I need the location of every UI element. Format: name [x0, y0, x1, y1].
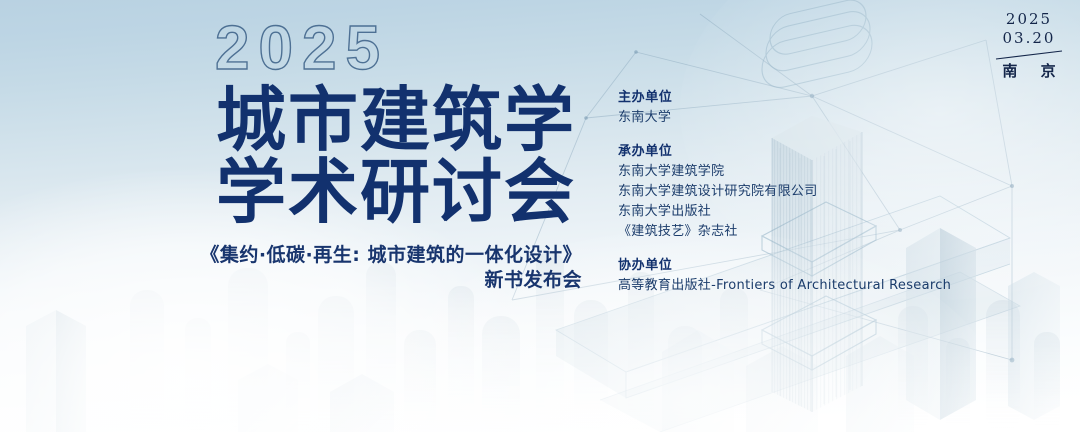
org-group-host: 主办单位 东南大学 — [618, 88, 1018, 128]
badge-city: 南 京 — [992, 62, 1066, 80]
org-item: 东南大学建筑学院 — [618, 162, 1018, 182]
org-heading-host: 主办单位 — [618, 88, 1018, 108]
org-item: 东南大学出版社 — [618, 202, 1018, 222]
title-line-1: 城市建筑学 — [216, 84, 582, 156]
organizations-list: 主办单位 东南大学 承办单位 东南大学建筑学院 东南大学建筑设计研究院有限公司 … — [618, 88, 1018, 296]
org-item: 高等教育出版社-Frontiers of Architectural Resea… — [618, 276, 1018, 296]
org-heading-coorganizer: 协办单位 — [618, 256, 1018, 276]
badge-year: 2025 — [992, 10, 1066, 29]
badge-divider-rule — [992, 49, 1066, 61]
title-line-2: 学术研讨会 — [216, 156, 582, 228]
org-group-organizer: 承办单位 东南大学建筑学院 东南大学建筑设计研究院有限公司 东南大学出版社 《建… — [618, 142, 1018, 242]
subtitle-line-1: 《集约·低碳·再生: 城市建筑的一体化设计》 — [150, 243, 582, 268]
page-title: 城市建筑学 学术研讨会 — [216, 84, 582, 228]
org-heading-organizer: 承办单位 — [618, 142, 1018, 162]
org-item: 东南大学 — [618, 108, 1018, 128]
org-item: 东南大学建筑设计研究院有限公司 — [618, 182, 1018, 202]
conference-poster: 2025 城市建筑学 学术研讨会 《集约·低碳·再生: 城市建筑的一体化设计》 … — [0, 0, 1080, 432]
badge-date: 03.20 — [992, 29, 1066, 48]
org-item: 《建筑技艺》杂志社 — [618, 222, 1018, 242]
subtitle: 《集约·低碳·再生: 城市建筑的一体化设计》 新书发布会 — [150, 243, 582, 293]
date-location-badge: 2025 03.20 南 京 — [992, 10, 1066, 80]
year-outline-text: 2025 — [215, 18, 389, 80]
subtitle-line-2: 新书发布会 — [150, 268, 582, 293]
org-group-coorganizer: 协办单位 高等教育出版社-Frontiers of Architectural … — [618, 256, 1018, 296]
